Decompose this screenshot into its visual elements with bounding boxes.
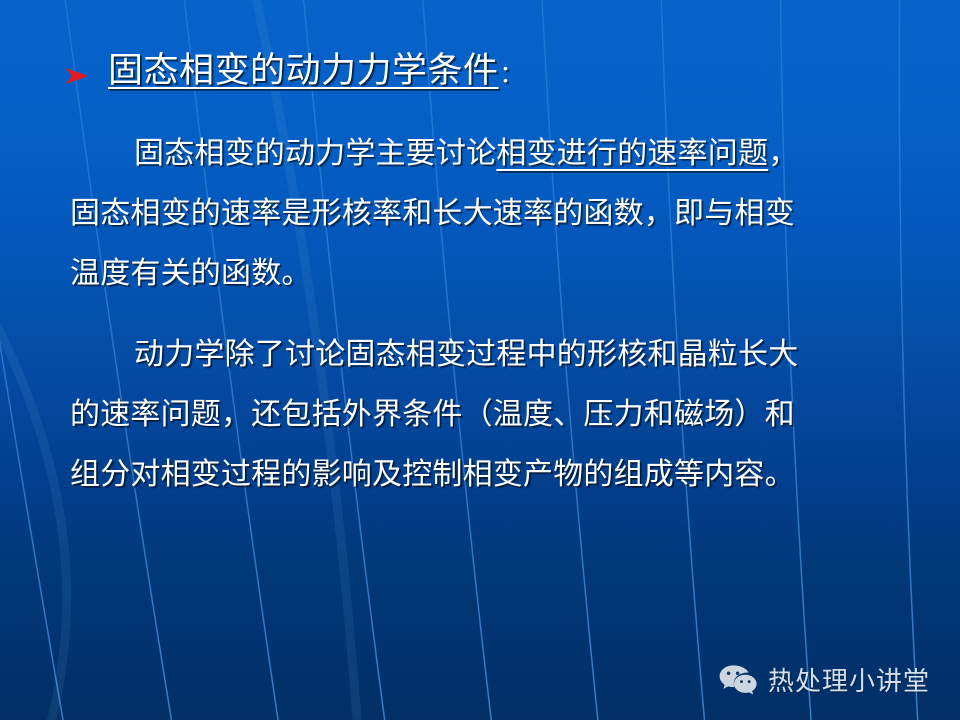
paragraph-2-line-3: 组分对相变过程的影响及控制相变产物的组成等内容。 — [70, 445, 930, 505]
presentation-slide: 固态相变的动力力学条件 ： 固态相变的动力学主要讨论相变进行的速率问题， 固态相… — [0, 0, 960, 720]
text-segment: 固态相变的动力学主要讨论 — [134, 137, 496, 170]
page-title-colon: ： — [500, 52, 524, 100]
watermark-text: 热处理小讲堂 — [768, 666, 930, 696]
paragraph-1-line-1: 固态相变的动力学主要讨论相变进行的速率问题， — [70, 124, 930, 184]
red-arrow-bullet-icon — [62, 54, 92, 100]
paragraph-1-line-2: 固态相变的速率是形核率和长大速率的函数，即与相变 — [70, 184, 930, 244]
slide-title: 固态相变的动力力学条件 ： — [62, 48, 524, 100]
text-segment: ， — [768, 137, 798, 170]
paragraph-2: 动力学除了讨论固态相变过程中的形核和晶粒长大 的速率问题，还包括外界条件（温度、… — [70, 325, 930, 505]
text-segment-underlined: 相变进行的速率问题 — [496, 137, 768, 170]
slide-content: 固态相变的动力力学条件 ： 固态相变的动力学主要讨论相变进行的速率问题， 固态相… — [0, 0, 960, 720]
paragraph-1: 固态相变的动力学主要讨论相变进行的速率问题， 固态相变的速率是形核率和长大速率的… — [70, 124, 930, 304]
paragraph-2-line-2: 的速率问题，还包括外界条件（温度、压力和磁场）和 — [70, 385, 930, 445]
watermark: 热处理小讲堂 — [718, 664, 930, 698]
paragraph-2-line-1: 动力学除了讨论固态相变过程中的形核和晶粒长大 — [70, 325, 930, 385]
page-title-text: 固态相变的动力力学条件 — [108, 48, 499, 94]
paragraph-1-line-3: 温度有关的函数。 — [70, 244, 930, 304]
wechat-icon — [718, 664, 758, 698]
